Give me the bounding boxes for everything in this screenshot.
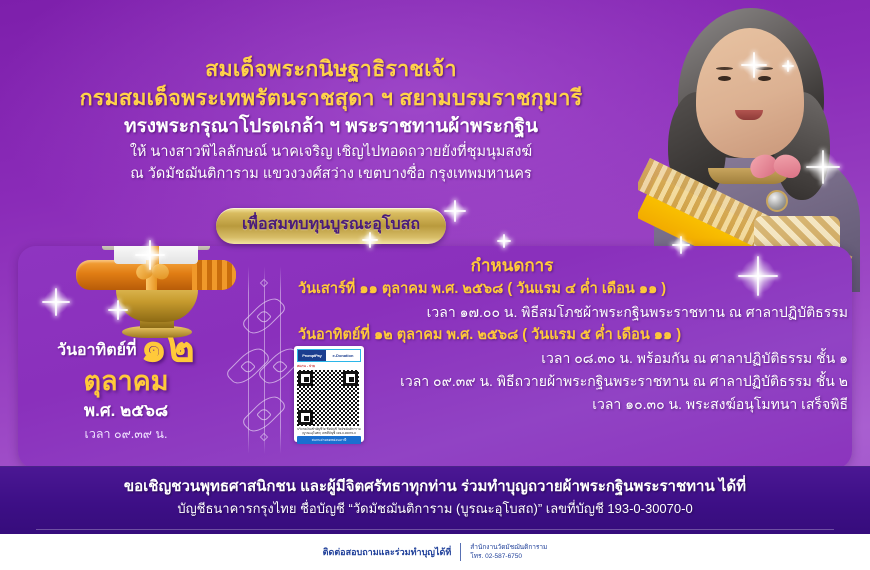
royal-title-line-1: สมเด็จพระกนิษฐาธิราชเจ้า — [0, 55, 662, 83]
qr-tagline: สแกน - จ่าย — [297, 363, 361, 369]
purpose-pill-badge: เพื่อสมทบทุนบูรณะอุโบสถ — [216, 208, 446, 244]
qr-finder-bottom-left — [298, 410, 313, 425]
header-block: สมเด็จพระกนิษฐาธิราชเจ้า กรมสมเด็จพระเทพ… — [0, 55, 662, 185]
event-year: พ.ศ. ๒๕๖๘ — [18, 398, 234, 424]
contact-bar: ติดต่อสอบถามและร่วมทำบุญได้ที่ สำนักงานว… — [0, 534, 870, 570]
portrait-brow-left — [716, 67, 733, 70]
portrait-hair-left — [668, 92, 726, 202]
schedule-day1-item-1: เวลา ๑๗.๐๐ น. พิธีสมโภชผ้าพระกฐินพระราชท… — [296, 301, 848, 324]
contact-label: ติดต่อสอบถามและร่วมทำบุญได้ที่ — [323, 545, 452, 559]
donation-footer-band: ขอเชิญชวนพุทธศาสนิกชน และผู้มีจิตศรัทธาท… — [0, 466, 870, 534]
qr-matrix — [297, 370, 359, 426]
contact-org-name: สำนักงานวัดมัชฌันติการาม — [470, 543, 547, 552]
qr-brand-header: PromptPay e-Donation — [297, 349, 361, 362]
schedule-day2-item-1: เวลา ๐๘.๓๐ น. พร้อมกัน ณ ศาลาปฏิบัติธรรม… — [296, 347, 848, 370]
subtitle-line-1: ให้ นางสาวพิไลลักษณ์ นาคเจริญ เชิญไปทอดถ… — [0, 141, 662, 163]
portrait-face — [696, 28, 804, 158]
portrait-pink-bow — [750, 155, 806, 183]
royal-title-line-3: ทรงพระกรุณาโปรดเกล้า ฯ พระราชทานผ้าพระกฐ… — [0, 113, 662, 141]
bank-account-text: บัญชีธนาคารกรุงไทย ชื่อบัญชี “วัดมัชฌันต… — [0, 498, 870, 520]
event-day-prefix: วันอาทิตย์ที่ — [57, 342, 136, 359]
contact-org-block: สำนักงานวัดมัชฌันติการาม โทร. 02-587-675… — [470, 543, 547, 561]
event-month: ตุลาคม — [18, 364, 234, 398]
schedule-day2-item-3: เวลา ๑๐.๓๐ น. พระสงฆ์อนุโมทนา เสร็จพิธี — [296, 393, 848, 416]
qr-finder-top-left — [298, 371, 313, 386]
donation-qr-code[interactable]: PromptPay e-Donation สแกน - จ่าย บริจาคเ… — [294, 346, 364, 442]
portrait-brow-right — [756, 67, 773, 70]
schedule-day2-item-2: เวลา ๐๙.๓๙ น. พิธีถวายผ้าพระกฐินพระราชทา… — [296, 370, 848, 393]
schedule-day2-label: วันอาทิตย์ที่ ๑๒ ตุลาคม พ.ศ. ๒๕๖๘ ( วันแ… — [296, 324, 848, 347]
portrait-mouth — [735, 110, 763, 120]
schedule-day1-label: วันเสาร์ที่ ๑๑ ตุลาคม พ.ศ. ๒๕๖๘ ( วันแรม… — [296, 278, 848, 301]
portrait-medal — [766, 190, 788, 212]
qr-caption: บริจาคเงินเข้าบัญชีวัด ชื่อบัญชี วัดมัชฌ… — [297, 427, 361, 435]
ornament-dot — [260, 279, 268, 287]
footer-divider — [36, 529, 834, 530]
portrait-necklace — [708, 168, 790, 184]
sparkle-icon — [782, 60, 794, 72]
contact-separator — [460, 543, 461, 561]
invitation-text: ขอเชิญชวนพุทธศาสนิกชน และผู้มีจิตศรัทธาท… — [0, 467, 870, 498]
contact-phone[interactable]: โทร. 02-587-6750 — [470, 552, 547, 561]
qr-footer-note: สแกนจ่ายลดหย่อนภาษี — [297, 436, 361, 444]
details-panel: วันอาทิตย์ที่๑๒ ตุลาคม พ.ศ. ๒๕๖๘ เวลา ๐๙… — [18, 246, 852, 469]
event-date-block: วันอาทิตย์ที่๑๒ ตุลาคม พ.ศ. ๒๕๖๘ เวลา ๐๙… — [18, 334, 234, 444]
schedule-block: กำหนดการ วันเสาร์ที่ ๑๑ ตุลาคม พ.ศ. ๒๕๖๘… — [296, 254, 852, 416]
subtitle-line-2: ณ วัดมัชฌันติการาม แขวงวงศ์สว่าง เขตบางซ… — [0, 163, 662, 185]
sparkle-icon — [741, 52, 767, 78]
sparkle-icon — [806, 150, 840, 184]
event-time: เวลา ๐๙.๓๙ น. — [18, 424, 234, 444]
royal-title-line-2: กรมสมเด็จพระเทพรัตนราชสุดา ฯ สยามบรมราชก… — [0, 83, 662, 113]
event-day-number: ๑๒ — [141, 323, 195, 370]
portrait-hair-right — [774, 92, 830, 200]
schedule-title: กำหนดการ — [296, 254, 728, 278]
event-day-row: วันอาทิตย์ที่๑๒ — [18, 334, 234, 364]
ornament-dot — [260, 433, 268, 441]
poster-canvas: สมเด็จพระกนิษฐาธิราชเจ้า กรมสมเด็จพระเทพ… — [0, 0, 870, 570]
promptpay-label: PromptPay — [298, 350, 326, 361]
purpose-pill-wrapper: เพื่อสมทบทุนบูรณะอุโบสถ — [0, 208, 662, 244]
ribbon-bow-bottom — [136, 264, 170, 282]
portrait-eye-right — [758, 76, 771, 81]
edonation-label: e-Donation — [326, 350, 360, 361]
portrait-hair — [678, 8, 824, 158]
portrait-eye-left — [718, 76, 731, 81]
qr-finder-top-right — [343, 371, 358, 386]
